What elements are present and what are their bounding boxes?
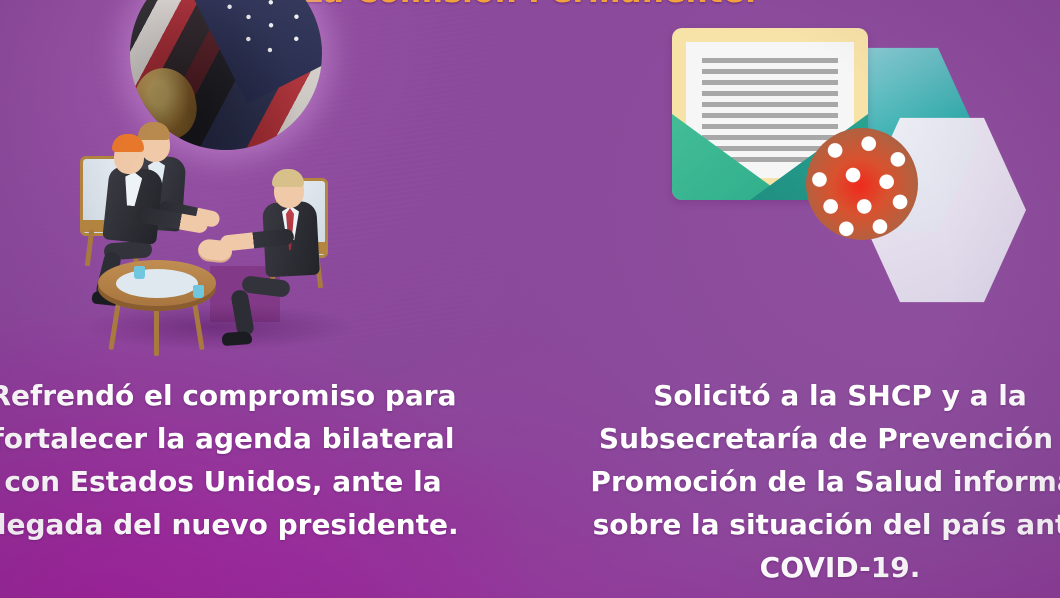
- caption-line: con Estados Unidos, ante la: [0, 460, 488, 503]
- virus-surface-dots: [806, 128, 918, 240]
- caption-line: Solicitó a la SHCP y a la: [560, 374, 1060, 417]
- covid-illustration: [660, 20, 1050, 350]
- cup-icon: [193, 285, 204, 298]
- cup-icon: [134, 266, 145, 279]
- coronavirus-icon: [776, 98, 948, 270]
- caption-covid-report-request: Solicitó a la SHCP y a la Subsecretaría …: [560, 374, 1060, 589]
- caption-line: Refrendó el compromiso para: [0, 374, 488, 417]
- caption-line: COVID-19.: [560, 546, 1060, 589]
- virus-body: [806, 128, 918, 240]
- handshake-scene: [70, 118, 370, 363]
- caption-line: sobre la situación del país ante: [560, 503, 1060, 546]
- round-table-icon: [98, 260, 216, 356]
- caption-line: Promoción de la Salud informar: [560, 460, 1060, 503]
- infographic-slide: La Comisión Permanente:: [0, 0, 1060, 598]
- caption-line: Subsecretaría de Prevención y: [560, 417, 1060, 460]
- caption-line: llegada del nuevo presidente.: [0, 503, 488, 546]
- caption-line: fortalecer la agenda bilateral: [0, 417, 488, 460]
- caption-bilateral-agenda: Refrendó el compromiso para fortalecer l…: [0, 374, 488, 546]
